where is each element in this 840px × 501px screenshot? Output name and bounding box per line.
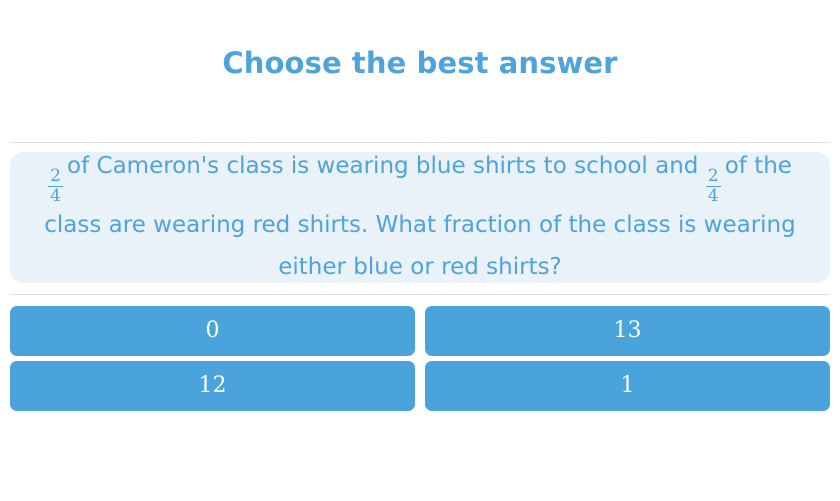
answer-option-1[interactable]: 0 — [10, 306, 415, 356]
fraction-one-numerator: 2 — [48, 168, 63, 185]
question-panel: 24of Cameron's class is wearing blue shi… — [10, 152, 830, 283]
fraction-two-numerator: 2 — [706, 168, 721, 185]
divider-above-question — [10, 142, 830, 143]
fraction-two: 24 — [706, 168, 721, 206]
quiz-screen: Choose the best answer 24of Cameron's cl… — [0, 0, 840, 501]
answer-options-grid: 0 13 12 1 — [10, 306, 830, 411]
question-text: 24of Cameron's class is wearing blue shi… — [26, 145, 814, 289]
page-title: Choose the best answer — [0, 46, 840, 81]
answer-option-3[interactable]: 12 — [10, 361, 415, 411]
answer-option-2[interactable]: 13 — [425, 306, 830, 356]
fraction-two-denominator: 4 — [706, 188, 721, 205]
divider-below-question — [10, 294, 830, 295]
fraction-one: 24 — [48, 168, 63, 206]
page-title-container: Choose the best answer — [0, 46, 840, 81]
answer-option-4[interactable]: 1 — [425, 361, 830, 411]
fraction-one-denominator: 4 — [48, 188, 63, 205]
question-segment-one: of Cameron's class is wearing blue shirt… — [67, 153, 698, 179]
